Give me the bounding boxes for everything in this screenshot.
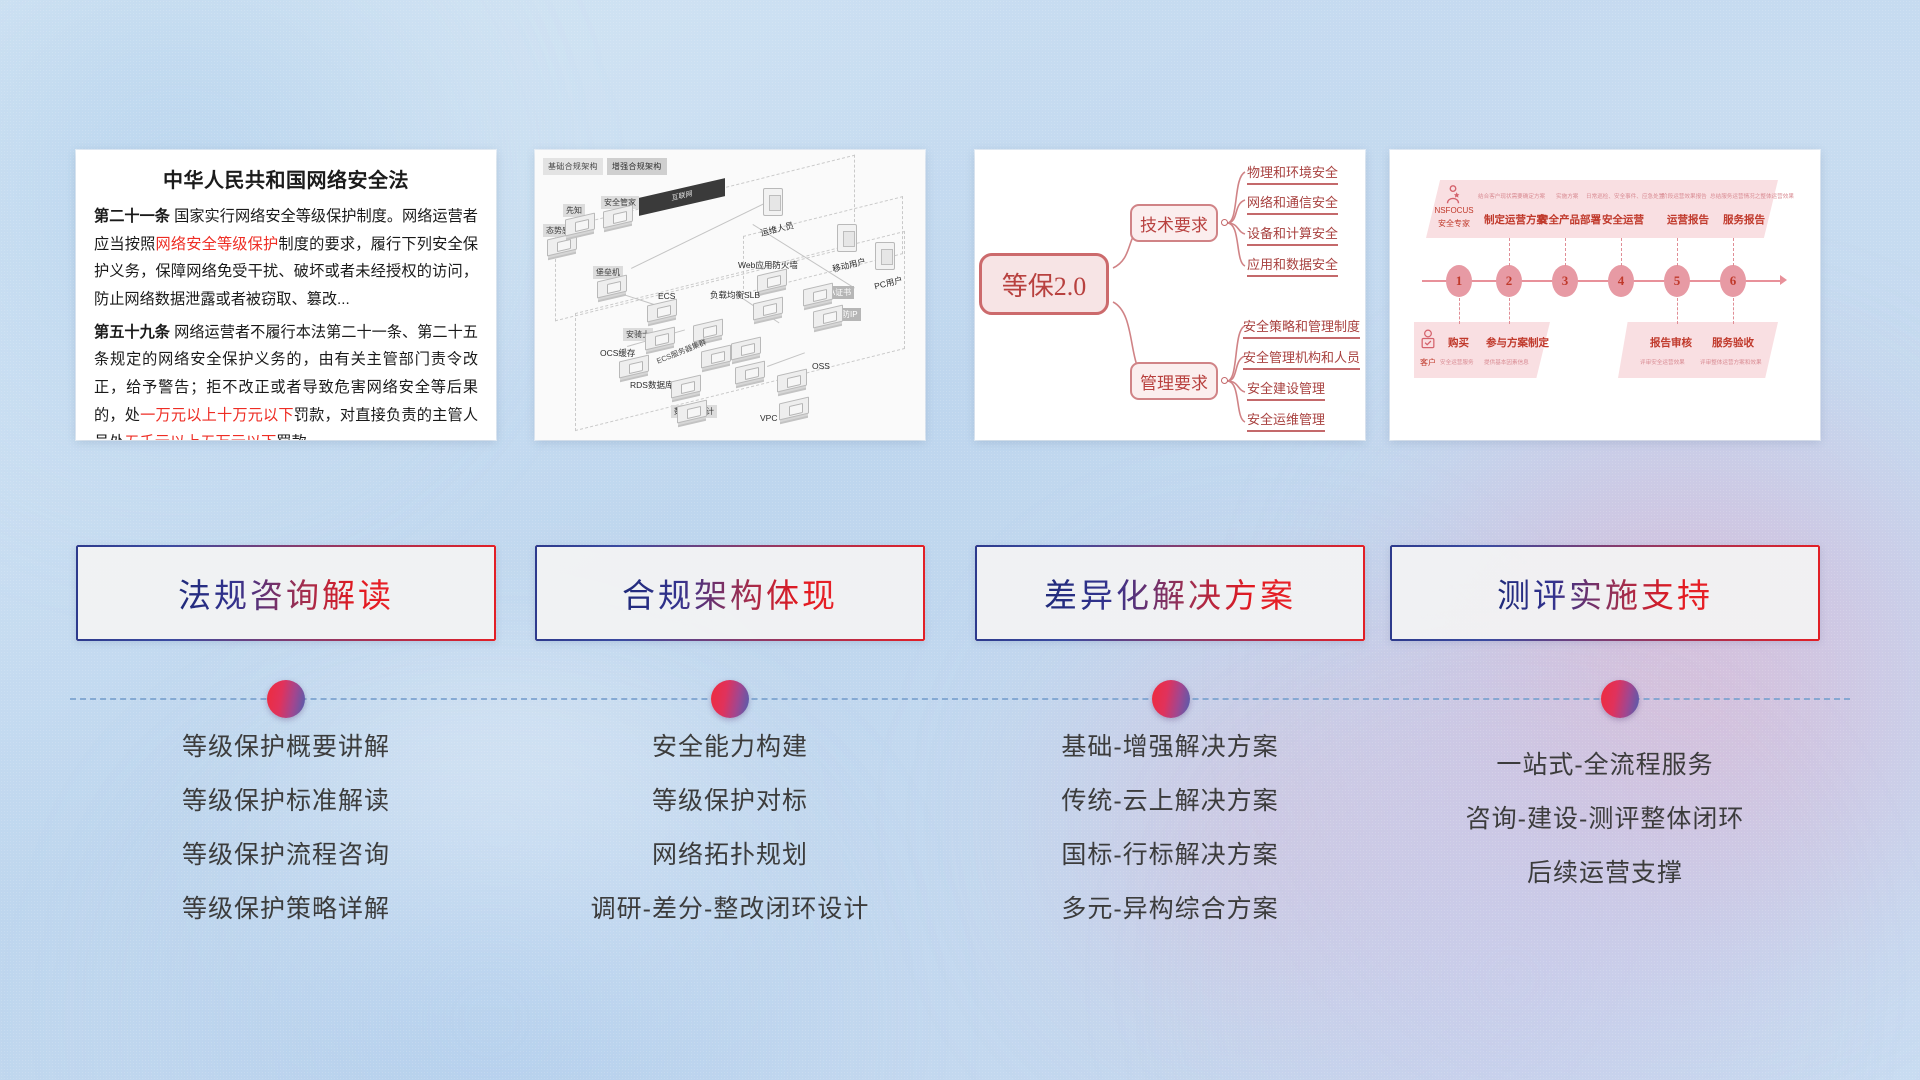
law-article-number-2: 第五十九条 [94, 324, 170, 341]
customer-icon [1418, 328, 1438, 354]
timeline-step-4-top-sub: 日常巡检、安全事件、应急处置 [1586, 192, 1664, 200]
node-security-butler[interactable]: 安全管家 [603, 208, 633, 225]
timeline-step-5-top-sub: 阶段运营效果报告 [1662, 192, 1707, 200]
timeline-step-5-bottom-sub: 评审安全运营效果 [1640, 358, 1685, 366]
card-slot-4: NSFOCUS 安全专家 客户 1 2 3 4 5 6 [1390, 150, 1820, 440]
section-items-4: 一站式-全流程服务 咨询-建设-测评整体闭环 后续运营支撑 [1390, 753, 1820, 886]
node-ecs-cluster-c[interactable] [731, 340, 761, 357]
timeline-connector-5-top [1677, 238, 1678, 266]
list-item: 等级保护概要讲解 [76, 735, 496, 760]
list-item: 传统-云上解决方案 [975, 789, 1365, 814]
list-item: 等级保护流程咨询 [76, 843, 496, 868]
node-ops-staff[interactable]: 运维人员 [763, 188, 783, 216]
timeline-step-1-node[interactable]: 1 [1446, 265, 1472, 297]
mindmap-leaf-app-data-security: 应用和数据安全 [1247, 254, 1338, 275]
timeline-band-bottom-right [1618, 322, 1778, 378]
card-slot-2: 基础合规架构 增强合规架构 互联网 态势感知 [535, 150, 925, 440]
mindmap-leaf-device-compute-security: 设备和计算安全 [1247, 223, 1338, 244]
timeline-dashed-line [70, 698, 1850, 700]
architecture-tabs: 基础合规架构 增强合规架构 [543, 158, 667, 175]
timeline-actor-top-role: 安全专家 [1428, 218, 1480, 229]
timeline-step-1-bottom-sub: 安全运营服务 [1440, 358, 1474, 366]
section-title-box-1[interactable]: 法规咨询解读 [76, 545, 496, 641]
node-oss[interactable]: OSS [777, 372, 807, 389]
timeline-step-6-bottom-label: 服务验收 [1712, 335, 1754, 350]
timeline-marker-2[interactable] [711, 680, 749, 718]
section-items-3: 基础-增强解决方案 传统-云上解决方案 国标-行标解决方案 多元-异构综合方案 [975, 735, 1365, 922]
timeline-connector-2-bottom [1509, 298, 1510, 324]
section-titles-row: 法规咨询解读 合规架构体现 差异化解决方案 测评实施支持 [0, 545, 1920, 645]
list-item: 国标-行标解决方案 [975, 843, 1365, 868]
law-run-2-5: 罚款。 [276, 434, 322, 440]
process-timeline-card[interactable]: NSFOCUS 安全专家 客户 1 2 3 4 5 6 [1390, 150, 1820, 440]
expert-icon [1442, 184, 1464, 206]
timeline-step-6-top-label: 服务报告 [1723, 212, 1765, 227]
timeline-connector-5-bottom [1677, 298, 1678, 324]
list-item: 等级保护对标 [535, 789, 925, 814]
card-slot-1: 中华人民共和国网络安全法 第二十一条 国家实行网络安全等级保护制度。网络运营者应… [76, 150, 496, 440]
section-title-box-3[interactable]: 差异化解决方案 [975, 545, 1365, 641]
title-slot-4: 测评实施支持 [1390, 545, 1820, 641]
cards-row: 中华人民共和国网络安全法 第二十一条 国家实行网络安全等级保护制度。网络运营者应… [0, 150, 1920, 450]
timeline-connector-6-bottom [1733, 298, 1734, 324]
node-xianzhi[interactable]: 先知 [565, 216, 595, 233]
section-title-box-4[interactable]: 测评实施支持 [1390, 545, 1820, 641]
node-rds-database[interactable]: RDS数据库 [671, 378, 701, 395]
timeline-step-5-bottom-label: 报告审核 [1650, 335, 1692, 350]
timeline-marker-4[interactable] [1601, 680, 1639, 718]
section-title-box-2[interactable]: 合规架构体现 [535, 545, 925, 641]
node-mobile-user[interactable]: 移动用户 [837, 224, 857, 252]
timeline-step-3-top-label: 安全产品部署 [1538, 212, 1601, 227]
mindmap-leaf-policy-system: 安全策略和管理制度 [1243, 316, 1360, 337]
mindmap-branch-technical[interactable]: 技术要求 [1130, 204, 1218, 242]
timeline-step-2-bottom-label: 参与方案制定 [1486, 335, 1549, 350]
law-run-2-4: 五千元以上五万元以下 [124, 434, 276, 440]
list-item: 调研-差分-整改闭环设计 [535, 897, 925, 922]
law-article-number-1: 第二十一条 [94, 208, 170, 225]
mindmap-leaf-construction-mgmt: 安全建设管理 [1247, 378, 1325, 399]
node-anti-ddos-ip[interactable]: 高防IP [813, 308, 843, 325]
node-label-waf: Web应用防火墙 [735, 258, 801, 272]
node-situational-awareness[interactable]: 态势感知 [547, 236, 577, 253]
timeline-step-3-node[interactable]: 3 [1552, 265, 1578, 297]
list-item: 咨询-建设-测评整体闭环 [1390, 807, 1820, 832]
card-slot-3: 等保2.0 技术要求 物理和环境安全 网络和通信安全 设备 [975, 150, 1365, 440]
list-item: 网络拓扑规划 [535, 843, 925, 868]
timeline-step-4-node[interactable]: 4 [1608, 265, 1634, 297]
node-ocs-cache[interactable]: OCS缓存 [619, 358, 649, 375]
node-ecs-cluster-a[interactable] [693, 322, 723, 339]
list-item: 后续运营支撑 [1390, 861, 1820, 886]
node-label-oss: OSS [809, 360, 833, 372]
node-ecs-cluster-d[interactable] [735, 364, 765, 381]
section-items-row: 等级保护概要讲解 等级保护标准解读 等级保护流程咨询 等级保护策略详解 安全能力… [0, 735, 1920, 965]
title-slot-2: 合规架构体现 [535, 545, 925, 641]
architecture-tab-enhanced[interactable]: 增强合规架构 [607, 158, 667, 175]
timeline-step-4-top-label: 安全运营 [1602, 212, 1644, 227]
node-bastion-host[interactable]: 堡垒机 [597, 278, 627, 295]
node-anqishi[interactable]: 安骑士 [645, 330, 675, 347]
timeline-step-2-top-sub: 结合客户现状需要确定方案 [1478, 192, 1545, 200]
list-item: 多元-异构综合方案 [975, 897, 1365, 922]
mindmap-collapse-dot-technical[interactable] [1221, 219, 1228, 226]
timeline-actor-top-name: NSFOCUS [1428, 206, 1480, 215]
timeline-step-6-node[interactable]: 6 [1720, 265, 1746, 297]
list-item: 基础-增强解决方案 [975, 735, 1365, 760]
timeline-connector-4-top [1621, 238, 1622, 266]
mindmap-leaf-physical-env-security: 物理和环境安全 [1247, 162, 1338, 183]
mindmap-branch-management[interactable]: 管理要求 [1130, 362, 1218, 400]
node-label-slb: 负载均衡SLB [707, 288, 763, 302]
title-slot-1: 法规咨询解读 [76, 545, 496, 641]
mindmap-leaf-operations-mgmt: 安全运维管理 [1247, 409, 1325, 430]
timeline-step-2-bottom-sub: 提供基本因素信息 [1484, 358, 1529, 366]
node-ecs-cluster-b[interactable] [701, 348, 731, 365]
items-slot-1: 等级保护概要讲解 等级保护标准解读 等级保护流程咨询 等级保护策略详解 [76, 735, 496, 922]
section-items-1: 等级保护概要讲解 等级保护标准解读 等级保护流程咨询 等级保护策略详解 [76, 735, 496, 922]
node-waf[interactable]: Web应用防火墙 [757, 272, 787, 289]
architecture-card[interactable]: 基础合规架构 增强合规架构 互联网 态势感知 [535, 150, 925, 440]
timeline-connector-6-top [1733, 238, 1734, 266]
list-item: 等级保护标准解读 [76, 789, 496, 814]
timeline-step-3-top-sub: 实施方案 [1556, 192, 1578, 200]
timeline-connector-3-top [1565, 238, 1566, 266]
list-item: 安全能力构建 [535, 735, 925, 760]
timeline-step-6-bottom-sub: 评审整体运营方案和效果 [1700, 358, 1762, 366]
law-run-1-2: 网络安全等级保护 [155, 236, 278, 253]
list-item: 一站式-全流程服务 [1390, 753, 1820, 778]
timeline-marker-3[interactable] [1152, 680, 1190, 718]
law-card-title: 中华人民共和国网络安全法 [94, 164, 478, 193]
section-items-2: 安全能力构建 等级保护对标 网络拓扑规划 调研-差分-整改闭环设计 [535, 735, 925, 922]
timeline-actor-bottom-name: 客户 [1414, 357, 1442, 368]
section-title-label-3: 差异化解决方案 [1044, 569, 1296, 617]
timeline-marker-1[interactable] [267, 680, 305, 718]
node-vpc[interactable]: VPC [779, 400, 809, 417]
timeline-step-2-node[interactable]: 2 [1496, 265, 1522, 297]
timeline-step-5-node[interactable]: 5 [1664, 265, 1690, 297]
timeline-step-6-top-sub: 总结服务运营情况之整体运营效果 [1710, 192, 1794, 200]
timeline-arrow-icon [1780, 275, 1787, 285]
section-title-label-1: 法规咨询解读 [178, 569, 394, 617]
items-slot-3: 基础-增强解决方案 传统-云上解决方案 国标-行标解决方案 多元-异构综合方案 [975, 735, 1365, 922]
timeline-connector-2-top [1509, 238, 1510, 266]
node-label-rds-database: RDS数据库 [627, 378, 676, 392]
timeline-step-5-top-label: 运营报告 [1667, 212, 1709, 227]
law-card[interactable]: 中华人民共和国网络安全法 第二十一条 国家实行网络安全等级保护制度。网络运营者应… [76, 150, 496, 440]
mindmap-card[interactable]: 等保2.0 技术要求 物理和环境安全 网络和通信安全 设备 [975, 150, 1365, 440]
slide-root: 中华人民共和国网络安全法 第二十一条 国家实行网络安全等级保护制度。网络运营者应… [0, 0, 1920, 1080]
mindmap-leaf-network-comm-security: 网络和通信安全 [1247, 192, 1338, 213]
mindmap-leaf-org-personnel: 安全管理机构和人员 [1243, 347, 1360, 368]
node-pc-user[interactable]: PC用户 [875, 242, 895, 270]
node-db-audit[interactable]: 数据库审计 [677, 403, 707, 420]
items-slot-2: 安全能力构建 等级保护对标 网络拓扑规划 调研-差分-整改闭环设计 [535, 735, 925, 922]
law-paragraph-1: 第二十一条 国家实行网络安全等级保护制度。网络运营者应当按照网络安全等级保护制度… [94, 203, 478, 314]
timeline-row [0, 660, 1920, 740]
mindmap-collapse-dot-management[interactable] [1221, 377, 1228, 384]
node-ca-cert[interactable]: CA证书 [803, 286, 833, 303]
timeline-step-1-bottom-label: 购买 [1448, 335, 1469, 350]
law-run-2-2: 一万元以上十万元以下 [140, 407, 294, 424]
title-slot-3: 差异化解决方案 [975, 545, 1365, 641]
timeline-connector-1-bottom [1459, 298, 1460, 324]
node-label-vpc: VPC [757, 412, 780, 424]
list-item: 等级保护策略详解 [76, 897, 496, 922]
architecture-tab-basic[interactable]: 基础合规架构 [543, 158, 603, 175]
law-paragraph-2: 第五十九条 网络运营者不履行本法第二十一条、第二十五条规定的网络安全保护义务的，… [94, 319, 478, 440]
node-slb[interactable]: 负载均衡SLB [753, 300, 783, 317]
node-ecs[interactable]: ECS [647, 302, 677, 319]
items-slot-4: 一站式-全流程服务 咨询-建设-测评整体闭环 后续运营支撑 [1390, 735, 1820, 886]
section-title-label-2: 合规架构体现 [622, 569, 838, 617]
section-title-label-4: 测评实施支持 [1497, 569, 1713, 617]
